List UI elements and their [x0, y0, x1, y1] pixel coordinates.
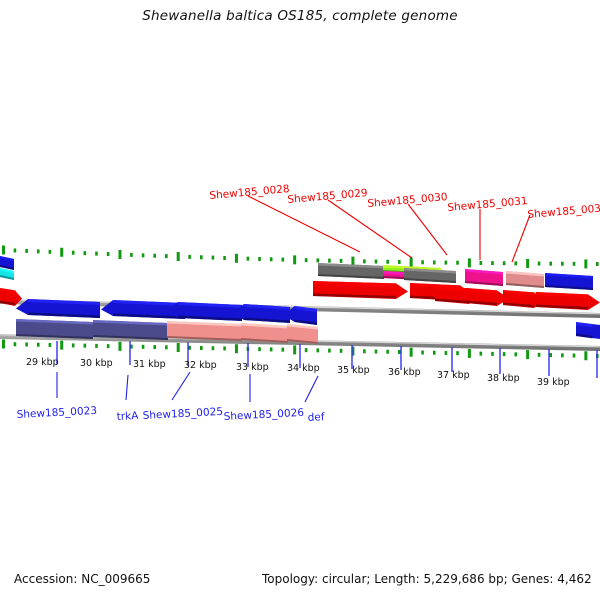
- domain-band: [93, 320, 168, 340]
- green-tick: [375, 350, 378, 354]
- green-tick: [445, 261, 448, 265]
- green-tick: [421, 350, 424, 354]
- green-tick: [118, 342, 121, 351]
- genome-map-canvas: [0, 0, 600, 600]
- axis-tick-label: 31 kbp: [133, 359, 166, 370]
- green-tick: [386, 260, 389, 264]
- green-tick: [258, 347, 261, 351]
- green-tick: [480, 352, 483, 356]
- green-tick: [188, 346, 191, 350]
- green-tick: [375, 260, 378, 264]
- green-tick: [340, 259, 343, 263]
- upper-domain-boxes: [0, 256, 593, 290]
- label-leader-line: [408, 204, 447, 255]
- green-tick: [282, 258, 285, 262]
- green-tick: [107, 344, 110, 348]
- green-tick: [538, 262, 541, 266]
- green-tick: [107, 252, 110, 256]
- green-tick: [188, 255, 191, 259]
- green-tick: [584, 259, 587, 268]
- green-tick: [60, 248, 63, 257]
- green-tick: [538, 353, 541, 357]
- green-tick: [491, 261, 494, 265]
- green-tick: [223, 346, 226, 350]
- green-tick: [596, 262, 599, 266]
- green-tick: [177, 343, 180, 352]
- green-tick: [2, 246, 5, 255]
- green-tick: [14, 248, 17, 252]
- green-tick: [293, 345, 296, 354]
- axis-tick-label: 33 kbp: [236, 362, 269, 373]
- green-tick: [49, 250, 52, 254]
- green-tick: [84, 344, 87, 348]
- gene-arrow-reverse[interactable]: [576, 322, 600, 339]
- green-tick: [386, 350, 389, 354]
- domain-box: [318, 263, 384, 279]
- green-tick: [573, 354, 576, 358]
- axis-tick-label: 34 kbp: [287, 363, 320, 374]
- green-tick: [468, 258, 471, 267]
- green-tick: [282, 348, 285, 352]
- green-tick: [363, 259, 366, 263]
- green-tick: [398, 260, 401, 264]
- green-tick: [491, 352, 494, 356]
- green-tick: [316, 348, 319, 352]
- green-tick: [142, 345, 145, 349]
- green-tick: [305, 348, 308, 352]
- green-tick: [223, 256, 226, 260]
- gene-label[interactable]: def: [307, 411, 324, 424]
- green-tick: [410, 348, 413, 357]
- green-tick: [270, 347, 273, 351]
- domain-box: [545, 273, 593, 290]
- domain-band: [241, 323, 288, 343]
- label-leader-line: [512, 215, 530, 262]
- label-leader-line: [172, 372, 190, 400]
- green-tick: [212, 346, 215, 350]
- green-tick: [421, 260, 424, 264]
- green-tick: [153, 254, 156, 258]
- green-tick: [503, 352, 506, 356]
- axis-tick-label: 30 kbp: [80, 358, 113, 369]
- green-tick: [37, 249, 40, 253]
- green-tick-row-top: [2, 246, 599, 269]
- gene-arrow-forward[interactable]: [536, 292, 600, 310]
- genome-viewer: Shewanella baltica OS185, complete genom…: [0, 0, 600, 600]
- green-tick: [340, 349, 343, 353]
- green-tick: [305, 258, 308, 262]
- axis-tick-label: 32 kbp: [184, 360, 217, 371]
- green-tick: [561, 262, 564, 266]
- green-tick: [49, 343, 52, 347]
- domain-box: [0, 268, 14, 280]
- green-tick: [526, 259, 529, 268]
- green-tick: [514, 261, 517, 265]
- axis-tick-label: 39 kbp: [537, 377, 570, 388]
- gene-label[interactable]: trkA: [116, 410, 138, 423]
- green-tick: [398, 350, 401, 354]
- domain-band: [16, 319, 93, 339]
- green-tick: [235, 254, 238, 263]
- green-tick: [328, 349, 331, 353]
- green-tick: [468, 349, 471, 358]
- axis-tick-label: 35 kbp: [337, 365, 370, 376]
- green-tick: [177, 252, 180, 261]
- label-leader-line: [305, 376, 318, 402]
- green-tick: [2, 340, 5, 349]
- axis-tick-label: 36 kbp: [388, 367, 421, 378]
- green-tick: [480, 261, 483, 265]
- green-tick: [526, 350, 529, 359]
- green-tick: [549, 262, 552, 266]
- domain-box: [506, 271, 544, 288]
- green-tick: [433, 351, 436, 355]
- green-tick: [503, 261, 506, 265]
- green-tick: [247, 257, 250, 261]
- green-tick: [37, 343, 40, 347]
- green-tick: [328, 259, 331, 263]
- green-tick: [118, 250, 121, 259]
- gene-arrow-forward[interactable]: [466, 288, 509, 306]
- green-tick: [165, 254, 168, 258]
- green-tick: [561, 353, 564, 357]
- green-tick: [60, 341, 63, 350]
- green-tick: [293, 255, 296, 264]
- green-tick: [410, 258, 413, 267]
- green-tick: [445, 351, 448, 355]
- genome-stats-text: Topology: circular; Length: 5,229,686 bp…: [262, 572, 592, 586]
- domain-band: [167, 321, 242, 341]
- green-tick: [212, 256, 215, 260]
- green-tick: [130, 253, 133, 257]
- domain-box: [0, 256, 14, 270]
- green-tick: [549, 353, 552, 357]
- green-tick: [514, 352, 517, 356]
- green-tick: [25, 342, 28, 346]
- green-tick: [316, 258, 319, 262]
- label-leader-line: [126, 375, 128, 400]
- green-tick: [456, 261, 459, 265]
- green-tick: [72, 251, 75, 255]
- green-tick: [153, 345, 156, 349]
- green-tick: [433, 260, 436, 264]
- green-tick: [200, 346, 203, 350]
- green-tick: [456, 351, 459, 355]
- green-tick: [95, 252, 98, 256]
- green-tick: [95, 344, 98, 348]
- domain-band: [287, 324, 318, 344]
- green-tick: [258, 257, 261, 261]
- green-tick: [72, 343, 75, 347]
- green-tick: [573, 262, 576, 266]
- green-tick: [351, 257, 354, 266]
- green-tick: [25, 249, 28, 253]
- green-tick: [235, 344, 238, 353]
- axis-tick-label: 29 kbp: [26, 357, 59, 368]
- green-tick: [84, 251, 87, 255]
- bottom-label-leader-lines: [57, 372, 318, 402]
- green-tick: [165, 345, 168, 349]
- gene-arrow-reverse[interactable]: [16, 299, 100, 318]
- axis-tick-label: 38 kbp: [487, 373, 520, 384]
- green-tick: [270, 257, 273, 261]
- accession-text: Accession: NC_009665: [14, 572, 150, 586]
- green-tick: [584, 351, 587, 360]
- green-tick: [200, 255, 203, 259]
- green-tick: [142, 253, 145, 257]
- domain-box: [404, 268, 456, 283]
- green-tick: [363, 349, 366, 353]
- domain-box: [465, 269, 503, 286]
- gene-arrow-forward[interactable]: [313, 281, 408, 299]
- axis-tick-label: 37 kbp: [437, 370, 470, 381]
- green-tick: [14, 342, 17, 346]
